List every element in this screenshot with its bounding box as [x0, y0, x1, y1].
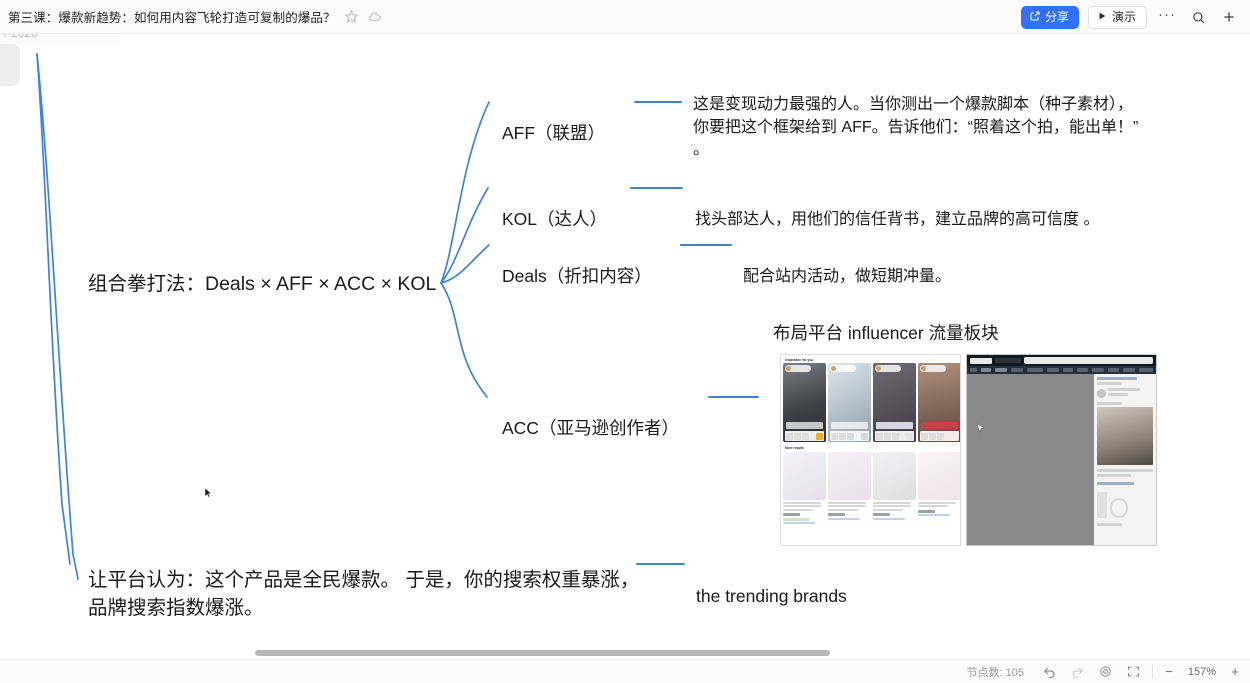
shot1-product-card [828, 452, 871, 524]
document-title[interactable]: 第三课：爆款新趋势：如何用内容飞轮打造可复制的爆品？ [8, 7, 336, 26]
shot1-video-row [781, 363, 960, 442]
more-options-label: ··· [1158, 6, 1176, 29]
zoom-in-button[interactable]: + [1229, 664, 1241, 679]
acc-caption[interactable]: 布局平台 influencer 流量板块 [773, 321, 999, 346]
mindmap-root-node[interactable]: 组合拳打法：Deals × AFF × ACC × KOL [88, 271, 436, 299]
share-icon [1029, 10, 1041, 24]
mindmap-canvas[interactable]: 组合拳打法：Deals × AFF × ACC × KOL AFF（联盟） 这是… [0, 34, 1250, 659]
titlebar: 第三课：爆款新趋势：如何用内容飞轮打造可复制的爆品？ 分享 [0, 0, 1250, 34]
branch-label-deals[interactable]: Deals（折扣内容） [502, 264, 652, 289]
shot1-video-card [873, 363, 916, 442]
undo-icon[interactable] [1040, 663, 1058, 681]
present-button-label: 演示 [1112, 11, 1136, 23]
shot1-video-card [828, 363, 871, 442]
shot2-loading-cursor-icon [975, 422, 986, 433]
branch-detail-kol[interactable]: 找头部达人，用他们的信任背书，建立品牌的高可信度 。 [695, 209, 1195, 232]
branch-label-acc[interactable]: ACC（亚马逊创作者） [502, 416, 679, 441]
shot2-body [967, 374, 1156, 545]
statusbar: 节点数: 105 − 157% + [0, 659, 1250, 683]
shot2-top-nav [967, 355, 1156, 366]
zoom-level-label[interactable]: 157% [1185, 666, 1219, 678]
horizontal-scrollbar-thumb[interactable] [255, 650, 830, 656]
shot1-video-card [783, 363, 826, 442]
shot1-video-card [918, 363, 961, 442]
plus-icon[interactable] [1218, 6, 1240, 28]
star-icon[interactable] [344, 9, 359, 24]
center-target-icon[interactable] [1096, 663, 1114, 681]
shot2-sub-nav [967, 366, 1156, 374]
mouse-cursor [203, 484, 215, 502]
search-icon[interactable] [1187, 6, 1209, 28]
branch-detail-deals[interactable]: 配合站内活动，做短期冲量。 [743, 266, 1073, 289]
shot1-header: Inspiration for you [781, 355, 960, 363]
mindmap-bottom-node[interactable]: 让平台认为：这个产品是全民爆款。 于是，你的搜索权重暴涨， 品牌搜索指数爆涨。 [88, 567, 628, 622]
cloud-sync-icon[interactable] [367, 9, 382, 24]
branch-label-kol[interactable]: KOL（达人） [502, 207, 607, 232]
more-options-button[interactable]: ··· [1156, 6, 1178, 28]
left-floating-panel-stub[interactable] [0, 44, 20, 86]
mindmap-bottom-detail[interactable]: the trending brands [696, 584, 847, 609]
share-button[interactable]: 分享 [1021, 6, 1079, 29]
zoom-out-button[interactable]: − [1163, 664, 1175, 679]
title-left-group: 第三课：爆款新趋势：如何用内容飞轮打造可复制的爆品？ [8, 0, 382, 34]
shot1-product-card [873, 452, 916, 524]
screenshot-amazon-inspiration[interactable]: Inspiration for you More results [780, 354, 961, 546]
play-icon [1097, 11, 1107, 23]
shot1-product-row [781, 452, 960, 524]
present-button[interactable]: 演示 [1088, 6, 1147, 29]
node-count-label: 节点数: 105 [967, 664, 1024, 680]
fit-screen-icon[interactable] [1124, 663, 1142, 681]
redo-icon[interactable] [1068, 663, 1086, 681]
shot2-side-panel [1094, 374, 1156, 545]
screenshot-amazon-creator[interactable] [966, 354, 1157, 546]
shot1-product-card [783, 452, 826, 524]
titlebar-actions: 分享 演示 ··· [1021, 0, 1240, 34]
branch-label-aff[interactable]: AFF（联盟） [502, 121, 605, 146]
share-button-label: 分享 [1045, 11, 1069, 23]
shot1-section-header: More results [781, 442, 960, 452]
shot1-product-card [918, 452, 961, 524]
branch-detail-aff[interactable]: 这是变现动力最强的人。当你测出一个爆款脚本（种子素材）， 你要把这个框架给到 A… [693, 94, 1241, 162]
statusbar-divider [1152, 665, 1153, 678]
